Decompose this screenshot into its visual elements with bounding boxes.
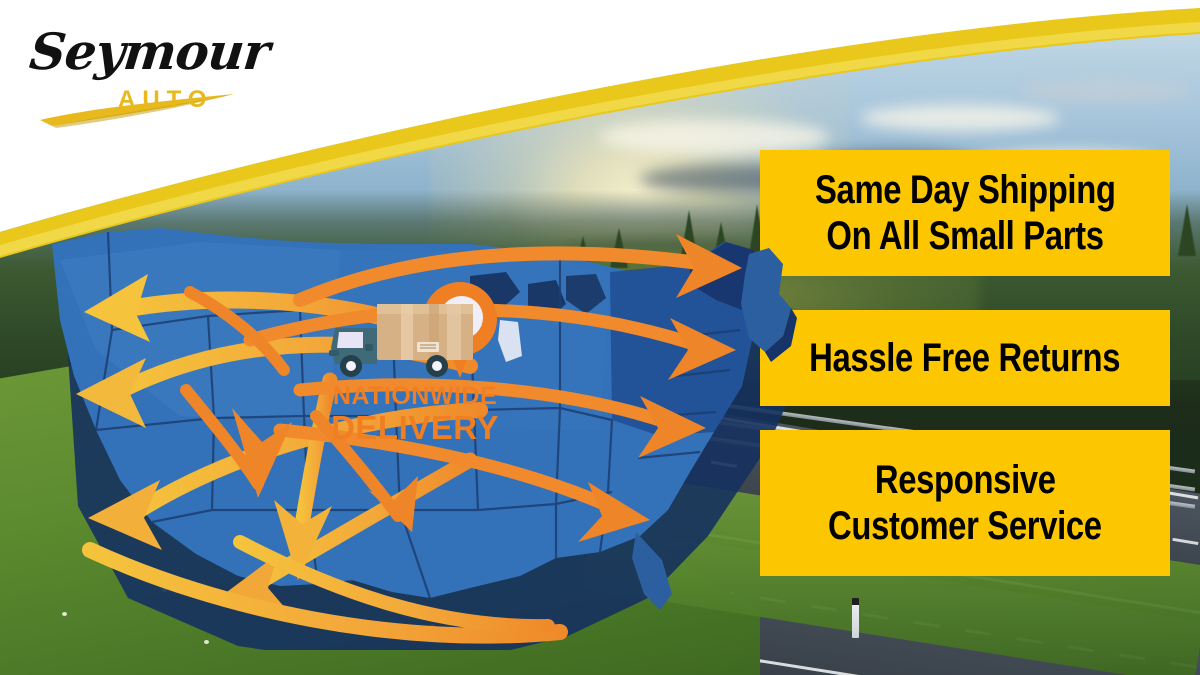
logo-sub-wordmark: AUTO xyxy=(118,86,214,114)
promo-banner: Seymour AUTO xyxy=(0,0,1200,675)
cloud xyxy=(860,105,1060,131)
callout-line: Hassle Free Returns xyxy=(810,335,1121,381)
brand-logo[interactable]: Seymour AUTO xyxy=(22,16,252,131)
callout-hassle-free-returns[interactable]: Hassle Free Returns xyxy=(760,310,1170,406)
badge-line-2: DELIVERY xyxy=(325,411,505,444)
badge-line-1: NATIONWIDE xyxy=(325,384,505,409)
nationwide-delivery-badge: NATIONWIDE DELIVERY xyxy=(325,280,515,450)
cloud xyxy=(1020,80,1190,102)
callout-line: Same Day Shipping xyxy=(815,167,1116,213)
roadside-marker-post xyxy=(852,598,859,638)
logo-wordmark: Seymour xyxy=(27,22,272,81)
callout-same-day-shipping[interactable]: Same Day Shipping On All Small Parts xyxy=(760,150,1170,276)
delivery-truck-icon xyxy=(325,302,485,384)
cloud xyxy=(600,120,830,154)
callout-responsive-customer-service[interactable]: Responsive Customer Service xyxy=(760,430,1170,576)
pine-tree xyxy=(1178,204,1196,256)
callout-line: Customer Service xyxy=(828,503,1102,549)
callout-line: Responsive xyxy=(875,457,1056,503)
callout-line: On All Small Parts xyxy=(826,213,1103,259)
badge-text: NATIONWIDE DELIVERY xyxy=(325,384,505,444)
